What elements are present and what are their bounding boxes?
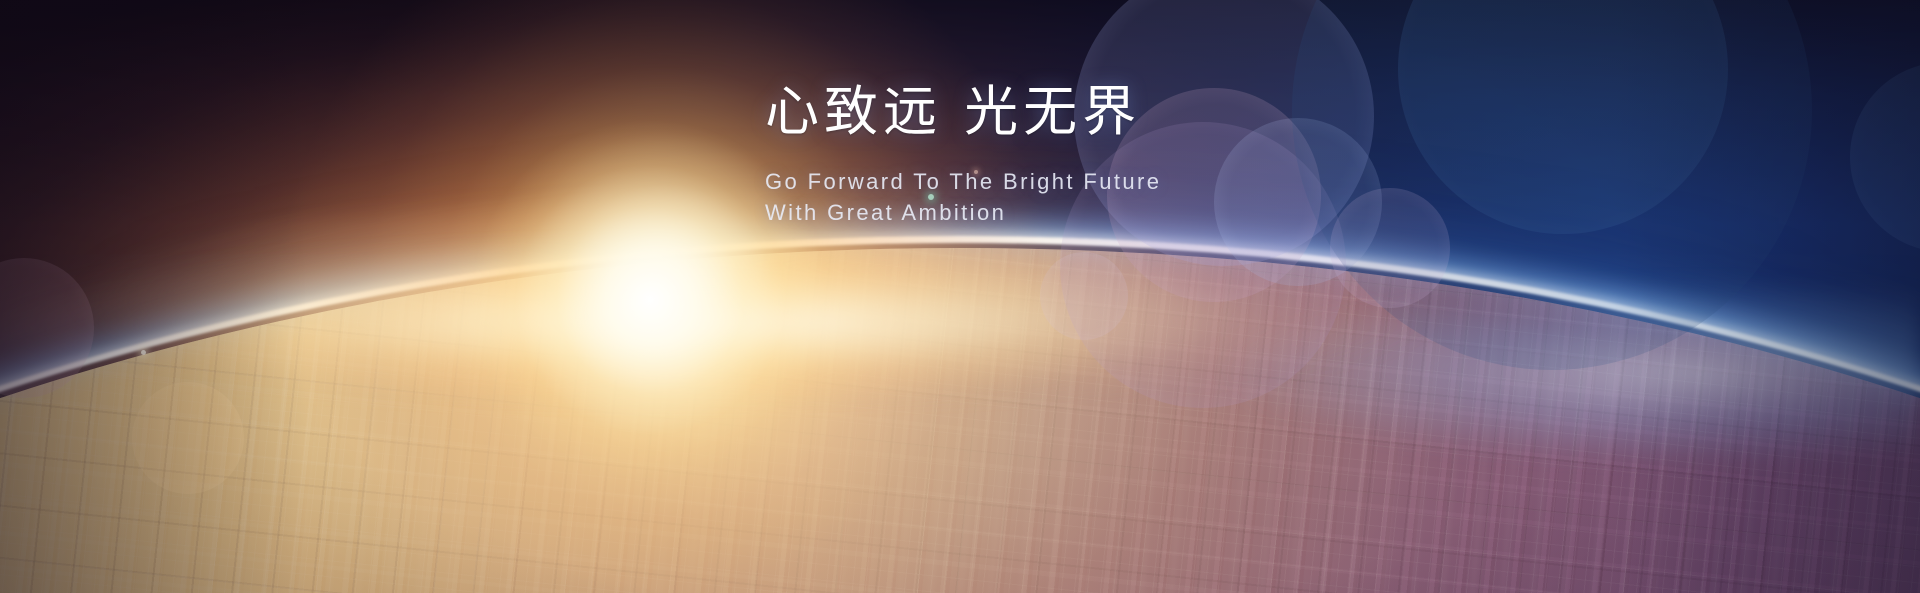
lens-flare-spark (141, 350, 146, 355)
lens-flare-circle (1330, 188, 1450, 308)
page-title: 心致远 光无界 (765, 82, 1161, 142)
hero-subtitle-line-1: Go Forward To The Bright Future (765, 166, 1161, 197)
lens-flare-circle (132, 382, 244, 494)
hero-subtitle-line-2: With Great Ambition (765, 197, 1161, 228)
lens-flare-circle (1850, 62, 1920, 252)
hero-copy-block: 心致远 光无界 Go Forward To The Bright Future … (765, 82, 1161, 228)
hero-subtitle-block: Go Forward To The Bright Future With Gre… (765, 166, 1161, 228)
hero-banner: 心致远 光无界 Go Forward To The Bright Future … (0, 0, 1920, 593)
lens-flare-circle (1040, 252, 1128, 340)
